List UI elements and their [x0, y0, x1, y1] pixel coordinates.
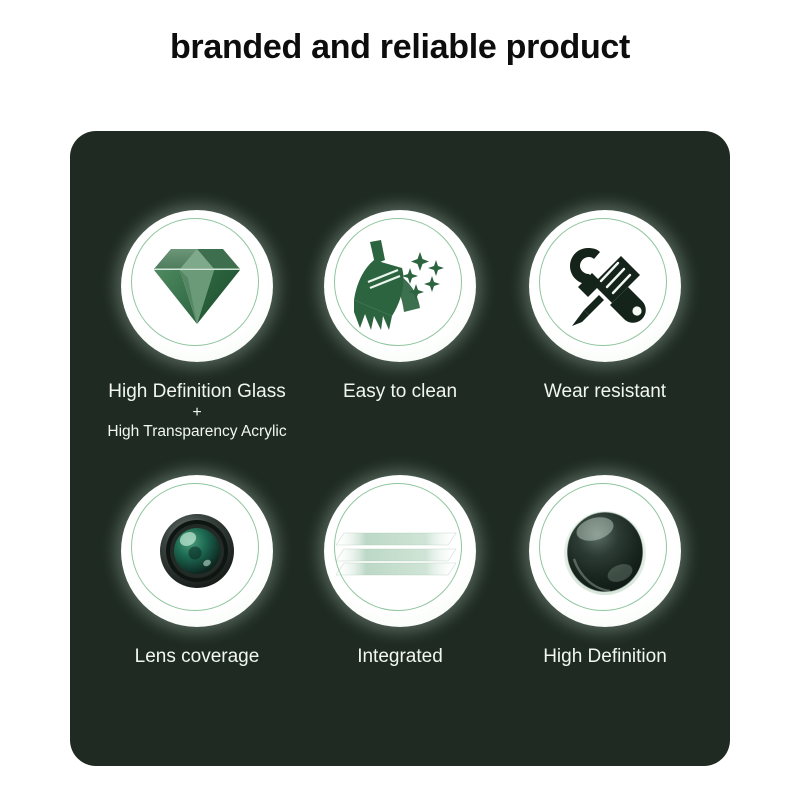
- feature-label-main: Wear resistant: [544, 381, 666, 402]
- camera-lens-icon: [121, 475, 273, 627]
- feature-card-high-definition-glass[interactable]: High Definition Glass + High Transparenc…: [97, 210, 297, 442]
- page-title: branded and reliable product: [0, 28, 800, 67]
- feature-label-main: Lens coverage: [135, 646, 260, 667]
- feature-label-plus: +: [81, 405, 313, 420]
- feature-medallion: [529, 210, 681, 362]
- feature-card-easy-to-clean[interactable]: Easy to clean: [300, 210, 500, 404]
- feature-medallion: [324, 475, 476, 627]
- glass-dome-icon: [529, 475, 681, 627]
- feature-card-lens-coverage[interactable]: Lens coverage: [97, 475, 297, 669]
- feature-label-sub: High Transparency Acrylic: [81, 421, 313, 442]
- feature-label: Lens coverage: [97, 644, 297, 669]
- feature-label: Wear resistant: [505, 379, 705, 404]
- feature-label-main: High Definition Glass: [108, 381, 285, 402]
- wrench-screwdriver-icon: [529, 210, 681, 362]
- feature-grid: High Definition Glass + High Transparenc…: [70, 131, 730, 766]
- feature-label-main: High Definition: [543, 646, 667, 667]
- feature-label-main: Integrated: [357, 646, 443, 667]
- feature-medallion: [324, 210, 476, 362]
- feature-card-high-definition[interactable]: High Definition: [505, 475, 705, 669]
- feature-card-wear-resistant[interactable]: Wear resistant: [505, 210, 705, 404]
- feature-label: High Definition: [505, 644, 705, 669]
- feature-label: Integrated: [300, 644, 500, 669]
- stacked-glass-layers-icon: [324, 475, 476, 627]
- feature-label: High Definition Glass + High Transparenc…: [81, 379, 313, 442]
- diamond-icon: [121, 210, 273, 362]
- feature-card-integrated[interactable]: Integrated: [300, 475, 500, 669]
- broom-sparkle-icon: [324, 210, 476, 362]
- feature-label-main: Easy to clean: [343, 381, 457, 402]
- feature-medallion: [121, 475, 273, 627]
- feature-medallion: [529, 475, 681, 627]
- feature-panel: High Definition Glass + High Transparenc…: [70, 131, 730, 766]
- feature-medallion: [121, 210, 273, 362]
- feature-label: Easy to clean: [300, 379, 500, 404]
